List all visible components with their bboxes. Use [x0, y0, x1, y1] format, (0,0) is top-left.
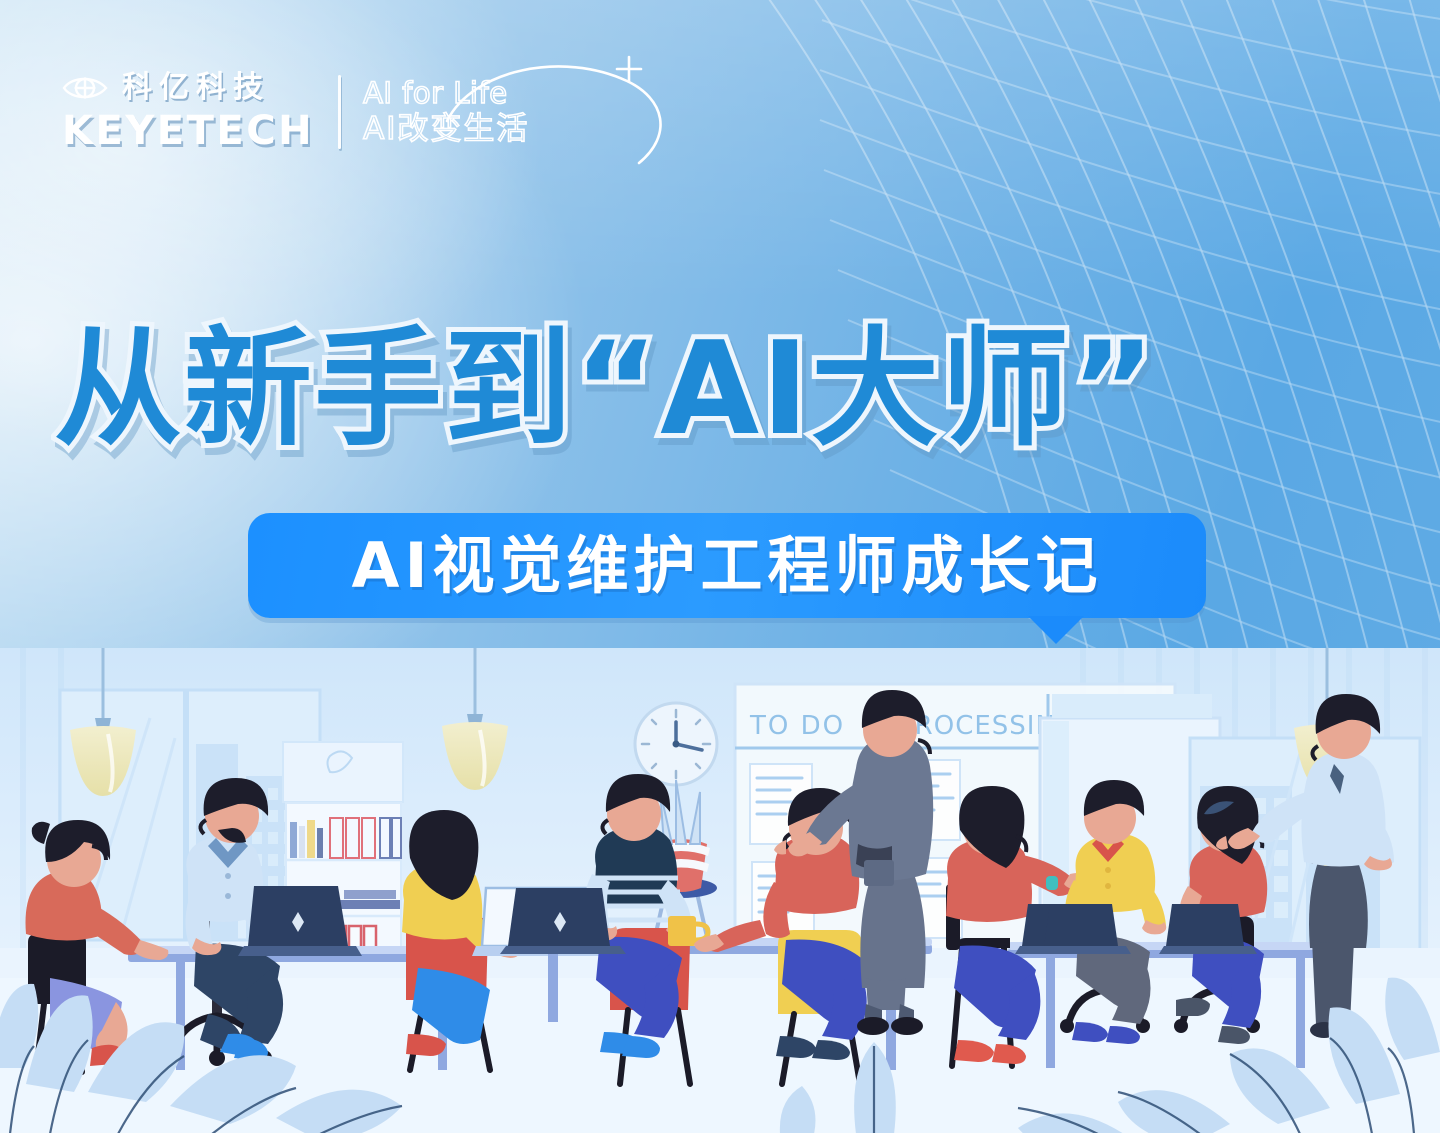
brand-slogan-group: AI for Life AI改变生活 — [363, 79, 529, 145]
slogan-en: AI for Life — [363, 79, 529, 108]
subtitle-text: AI视觉维护工程师成长记 — [351, 535, 1102, 597]
page-title: 从新手到“AI大师” — [54, 326, 1157, 454]
brand-logo[interactable]: 科亿科技 KEYETECH AI for Life AI改变生活 — [62, 72, 529, 151]
wall-clock — [635, 703, 717, 785]
subtitle-banner-pointer — [1028, 616, 1084, 644]
eye-logo-icon — [62, 72, 108, 104]
brand-name-group: 科亿科技 KEYETECH — [62, 72, 314, 151]
logo-divider — [338, 75, 341, 149]
svg-text:TO DO: TO DO — [749, 711, 845, 741]
brand-name-cn: 科亿科技 — [122, 73, 270, 103]
poster-root: 科亿科技 KEYETECH AI for Life AI改变生活 从新手到“AI… — [0, 0, 1440, 1133]
office-illustration: TO DO PROCESSING DONE — [0, 648, 1440, 1133]
slogan-cn: AI改变生活 — [363, 114, 529, 145]
office-scene-svg: TO DO PROCESSING DONE — [0, 648, 1440, 1133]
subtitle-banner: AI视觉维护工程师成长记 — [248, 513, 1206, 618]
brand-name-en: KEYETECH — [62, 111, 314, 151]
